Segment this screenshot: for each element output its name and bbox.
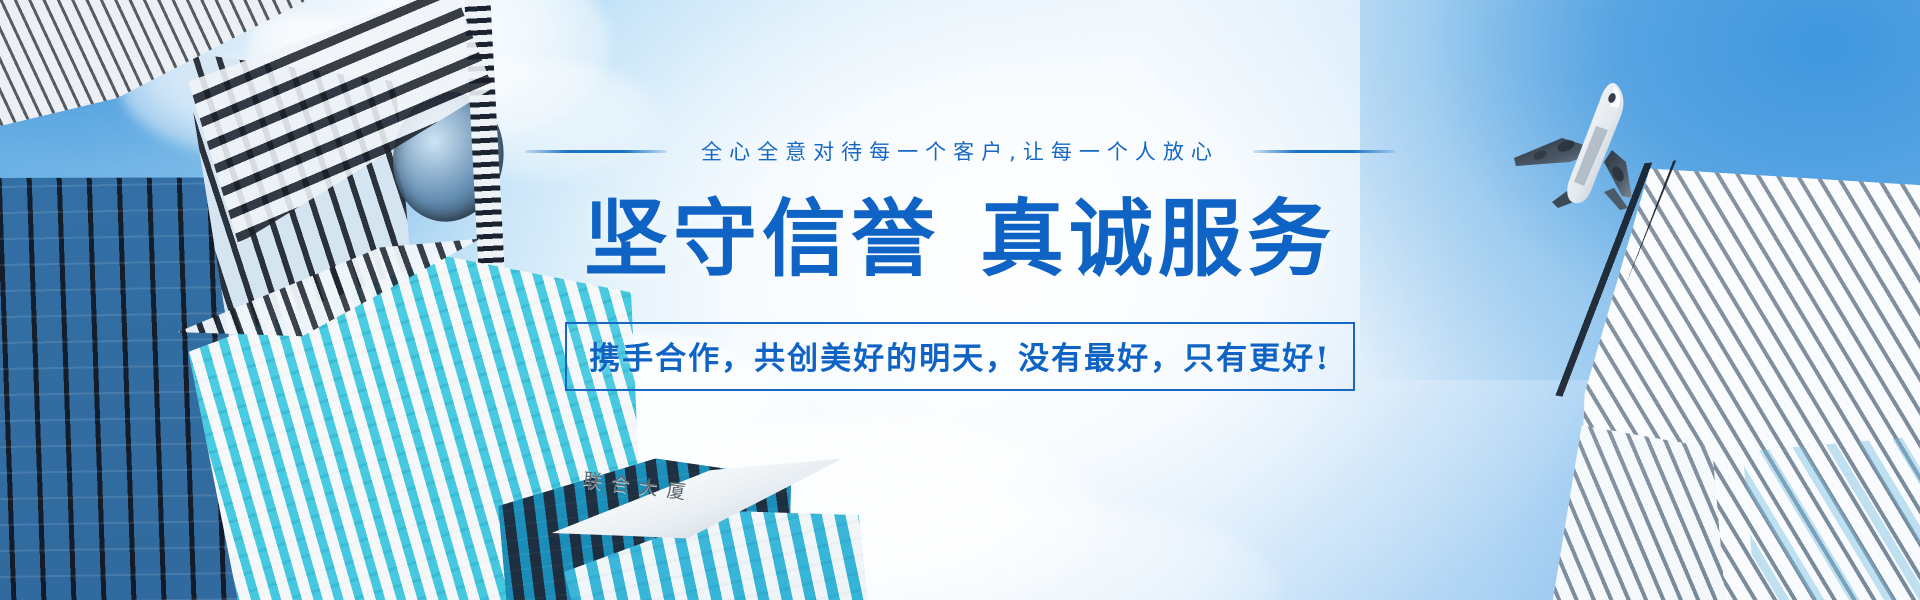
airplane-icon	[1496, 66, 1692, 214]
hero-banner: 联合大厦	[0, 0, 1920, 600]
tower-glass-reflection	[1743, 428, 1920, 600]
